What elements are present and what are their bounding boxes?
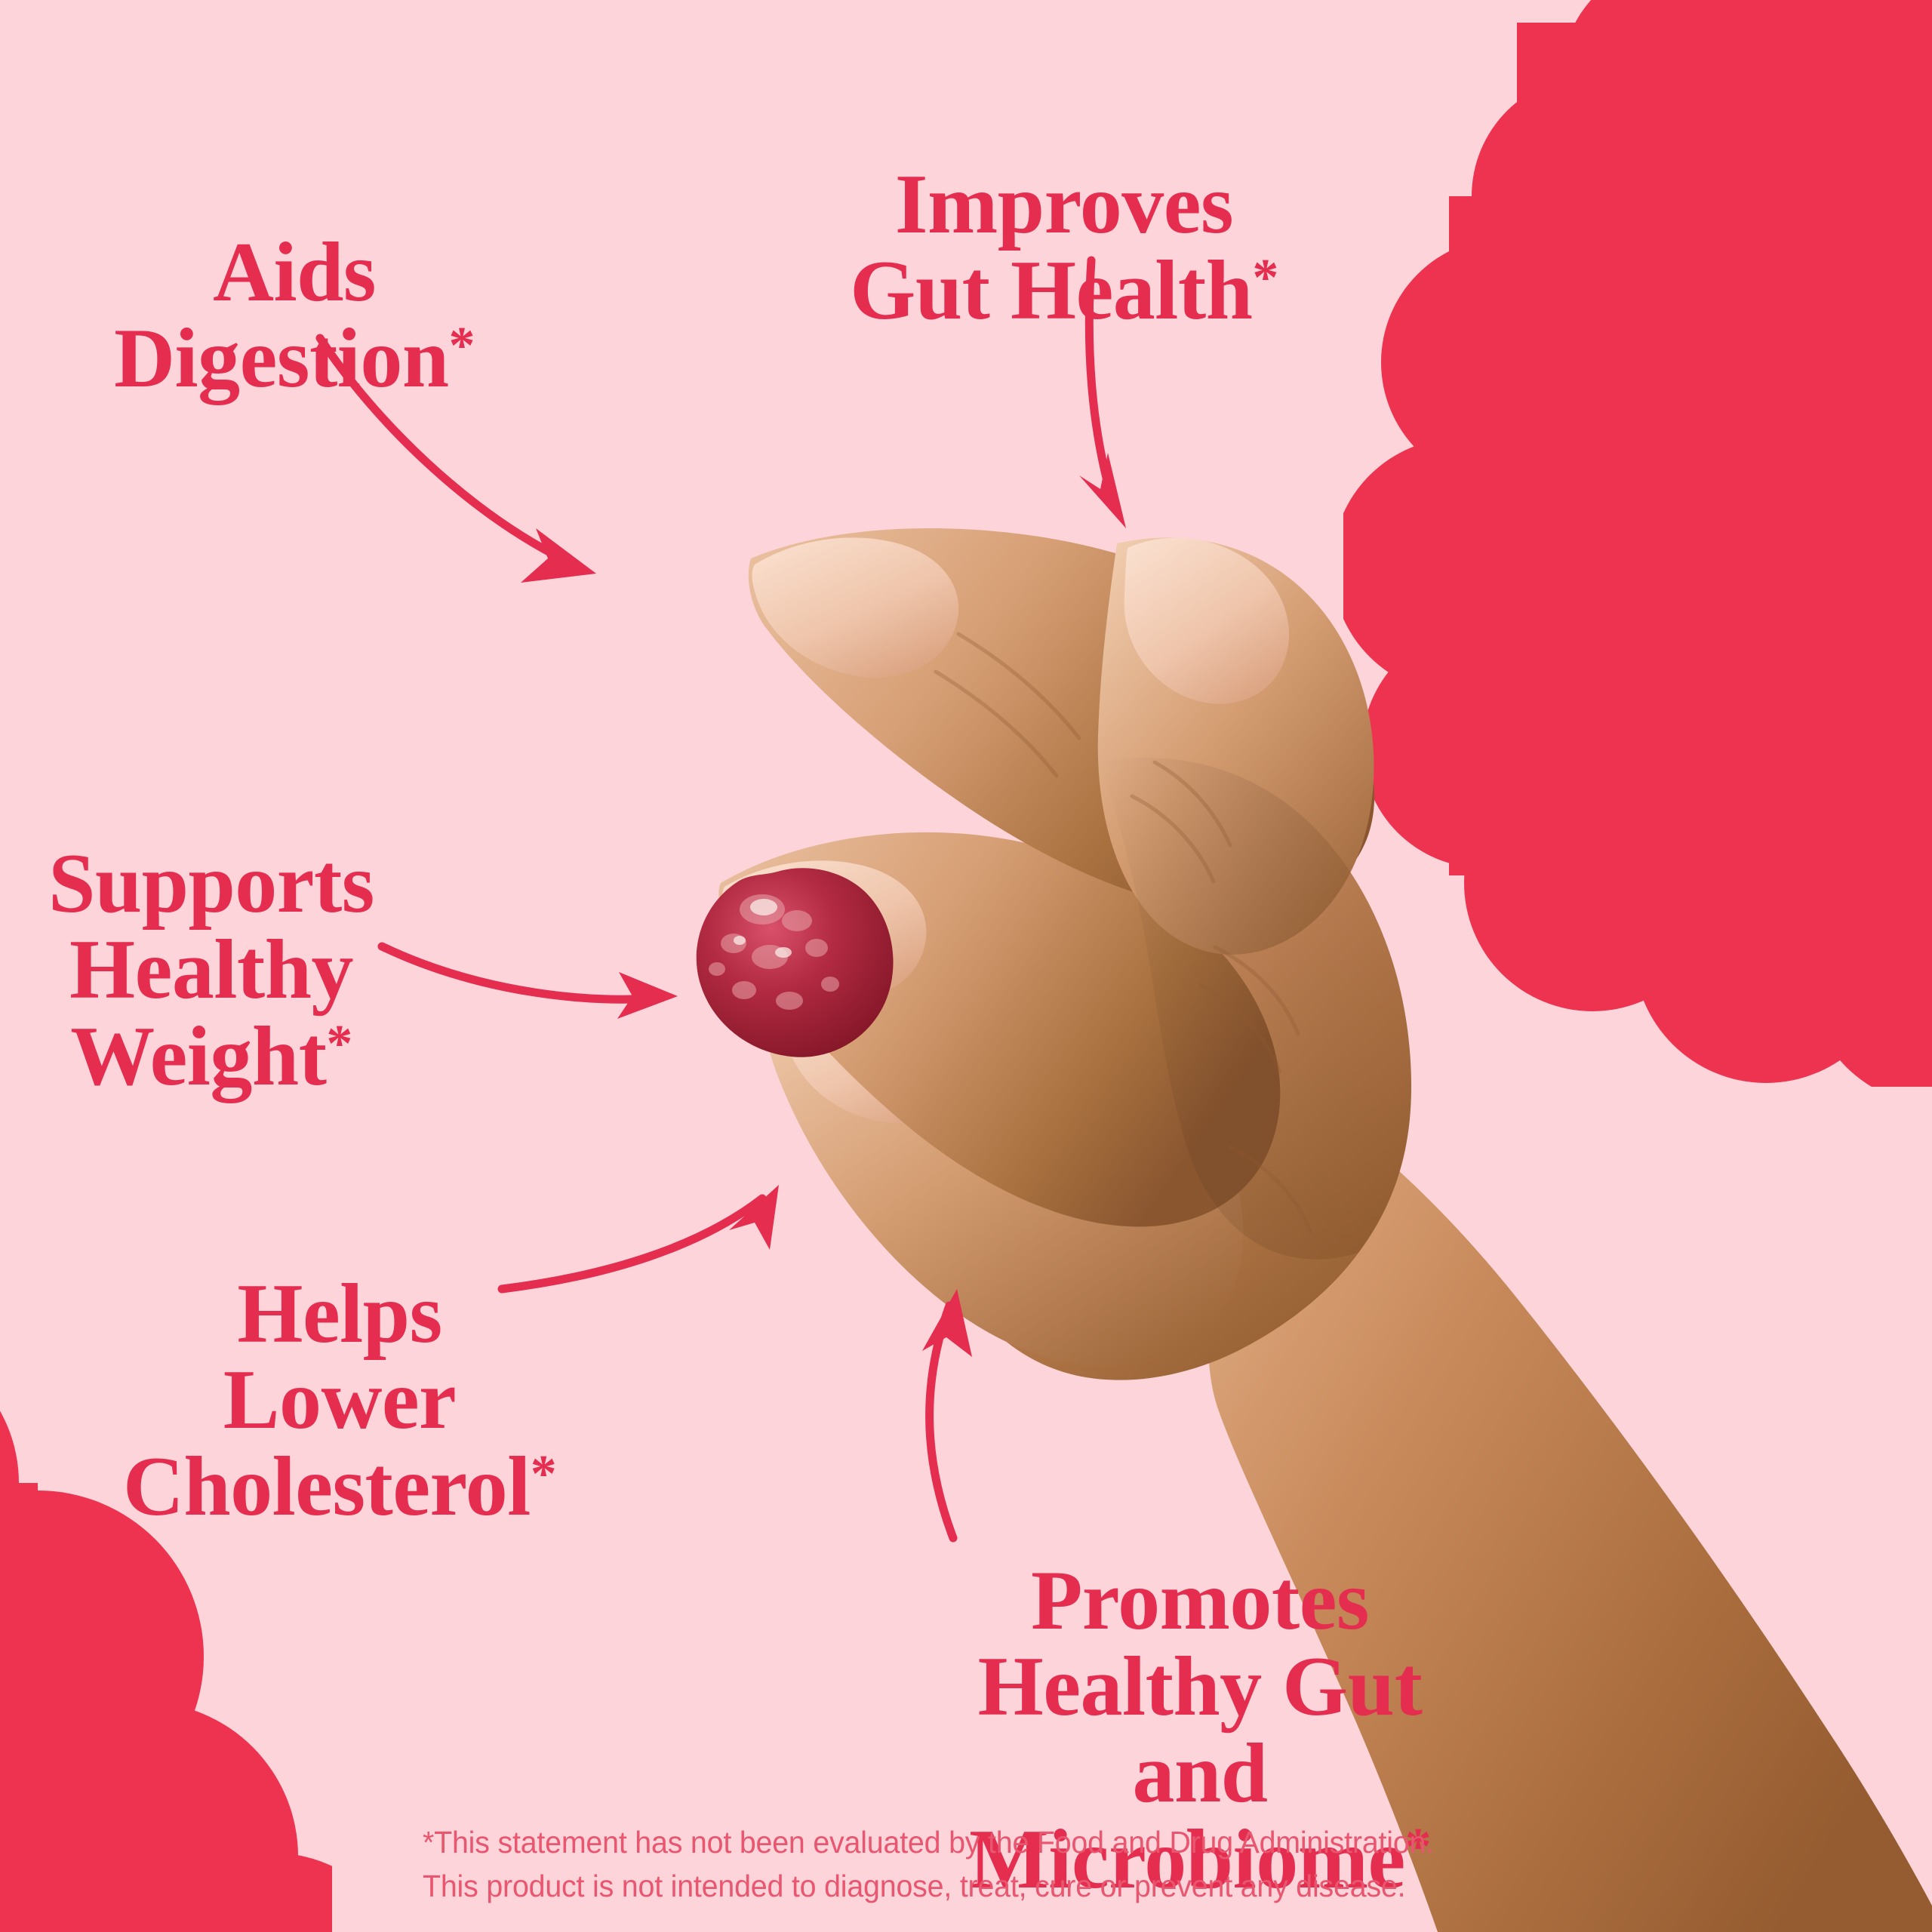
product-benefits-graphic: Aids Digestion* Improves Gut Health* Sup… <box>0 0 1932 1932</box>
footnote-asterisk: * <box>1253 249 1278 307</box>
callout-aids-digestion-text: Aids Digestion <box>114 226 449 405</box>
callout-supports-healthy-weight-text: Supports Healthy Weight <box>48 837 374 1103</box>
arrow-supports-weight-line <box>382 946 658 999</box>
callout-improves-gut-health-text: Improves Gut Health <box>850 158 1252 337</box>
callout-improves-gut-health: Improves Gut Health* <box>823 75 1306 334</box>
callout-aids-digestion: Aids Digestion* <box>83 143 506 402</box>
footnote-asterisk: * <box>531 1444 556 1503</box>
footnote-asterisk: * <box>327 1014 352 1072</box>
arrow-microbiome-head <box>922 1289 972 1357</box>
footnote-asterisk: * <box>449 317 475 375</box>
callout-supports-healthy-weight: Supports Healthy Weight* <box>23 755 400 1100</box>
arrow-aids-digestion-head <box>521 528 596 583</box>
callout-helps-lower-cholesterol-text: Helps Lower Cholesterol <box>123 1267 531 1533</box>
fda-disclaimer: *This statement has not been evaluated b… <box>423 1820 1481 1908</box>
callout-helps-lower-cholesterol: Helps Lower Cholesterol* <box>91 1185 589 1530</box>
